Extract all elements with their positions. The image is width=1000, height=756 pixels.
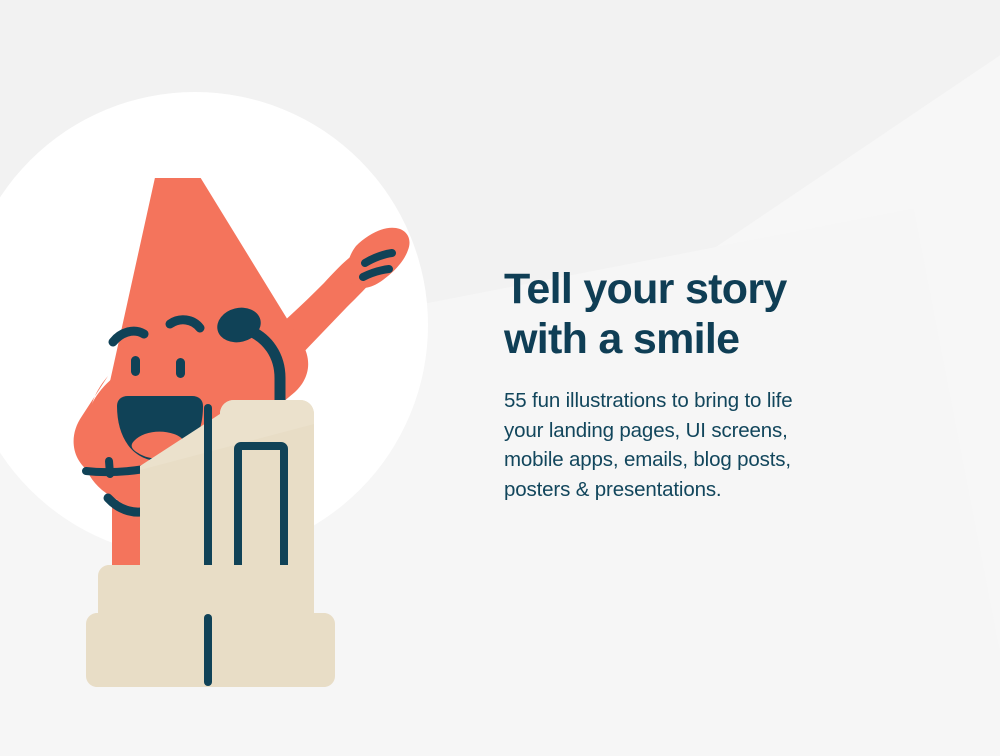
character-eye-left — [131, 356, 140, 376]
headline-line-1: Tell your story — [504, 264, 914, 314]
hero-text-column: Tell your story with a smile 55 fun illu… — [504, 264, 914, 504]
headline-line-2: with a smile — [504, 314, 914, 364]
subcopy-line-3: mobile apps, emails, blog posts, — [504, 445, 914, 475]
character-eye-right — [176, 358, 185, 378]
page-title: Tell your story with a smile — [504, 264, 914, 364]
subcopy-line-4: posters & presentations. — [504, 475, 914, 505]
character-thumb-tick — [109, 461, 110, 474]
speaker-character-illustration — [24, 178, 444, 708]
hero-canvas: Tell your story with a smile 55 fun illu… — [0, 0, 1000, 756]
page-subcopy: 55 fun illustrations to bring to life yo… — [504, 386, 914, 504]
subcopy-line-1: 55 fun illustrations to bring to life — [504, 386, 914, 416]
subcopy-line-2: your landing pages, UI screens, — [504, 416, 914, 446]
